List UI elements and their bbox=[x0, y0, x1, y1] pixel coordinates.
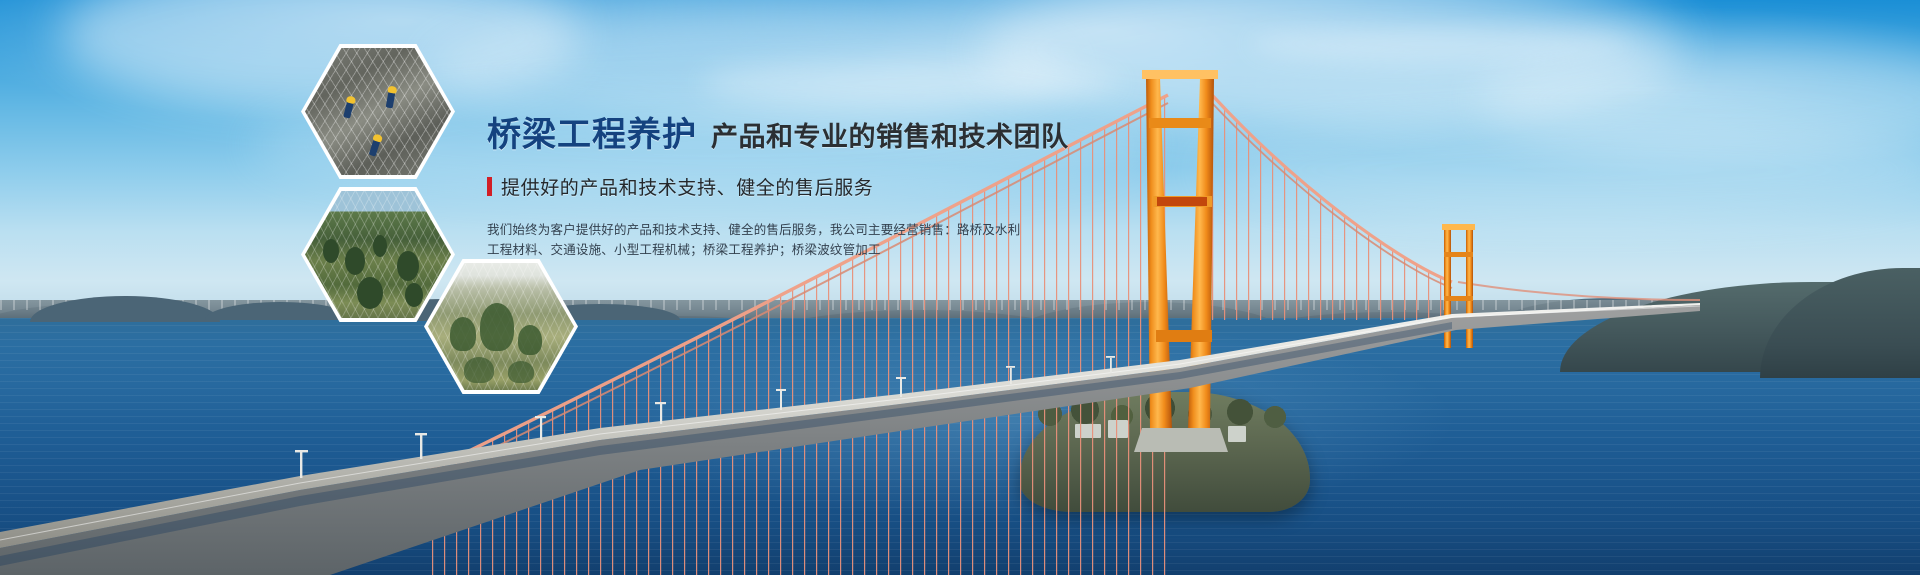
headline-primary: 桥梁工程养护 bbox=[487, 116, 697, 154]
banner-subheadline: 提供好的产品和技术支持、健全的售后服务 bbox=[487, 173, 1127, 200]
suspension-bridge bbox=[0, 0, 1920, 575]
banner-text-block: 桥梁工程养护产品和专业的销售和技术团队 提供好的产品和技术支持、健全的售后服务 … bbox=[487, 118, 1127, 260]
headline-secondary: 产品和专业的销售和技术团队 bbox=[711, 122, 1069, 152]
worker-figure bbox=[386, 92, 396, 109]
bridge-cable-right bbox=[1205, 90, 1700, 330]
banner-headline: 桥梁工程养护产品和专业的销售和技术团队 bbox=[487, 118, 1127, 152]
worker-figure bbox=[343, 101, 354, 118]
hex-photo-slope-mesh-workers[interactable] bbox=[301, 44, 455, 179]
description-line-2: 工程材料、交通设施、小型工程机械；桥梁工程养护；桥梁波纹管加工 bbox=[487, 240, 1127, 260]
worker-figure bbox=[369, 139, 381, 156]
hero-banner: 桥梁工程养护产品和专业的销售和技术团队 提供好的产品和技术支持、健全的售后服务 … bbox=[0, 0, 1920, 575]
hex-photo-shrub-slope-mesh[interactable] bbox=[424, 259, 578, 394]
accent-bar bbox=[487, 177, 492, 196]
banner-description: 我们始终为客户提供好的产品和技术支持、健全的售后服务，我公司主要经营销售：路桥及… bbox=[487, 220, 1127, 260]
subheadline-text: 提供好的产品和技术支持、健全的售后服务 bbox=[501, 173, 873, 200]
description-line-1: 我们始终为客户提供好的产品和技术支持、健全的售后服务，我公司主要经营销售：路桥及… bbox=[487, 220, 1127, 240]
